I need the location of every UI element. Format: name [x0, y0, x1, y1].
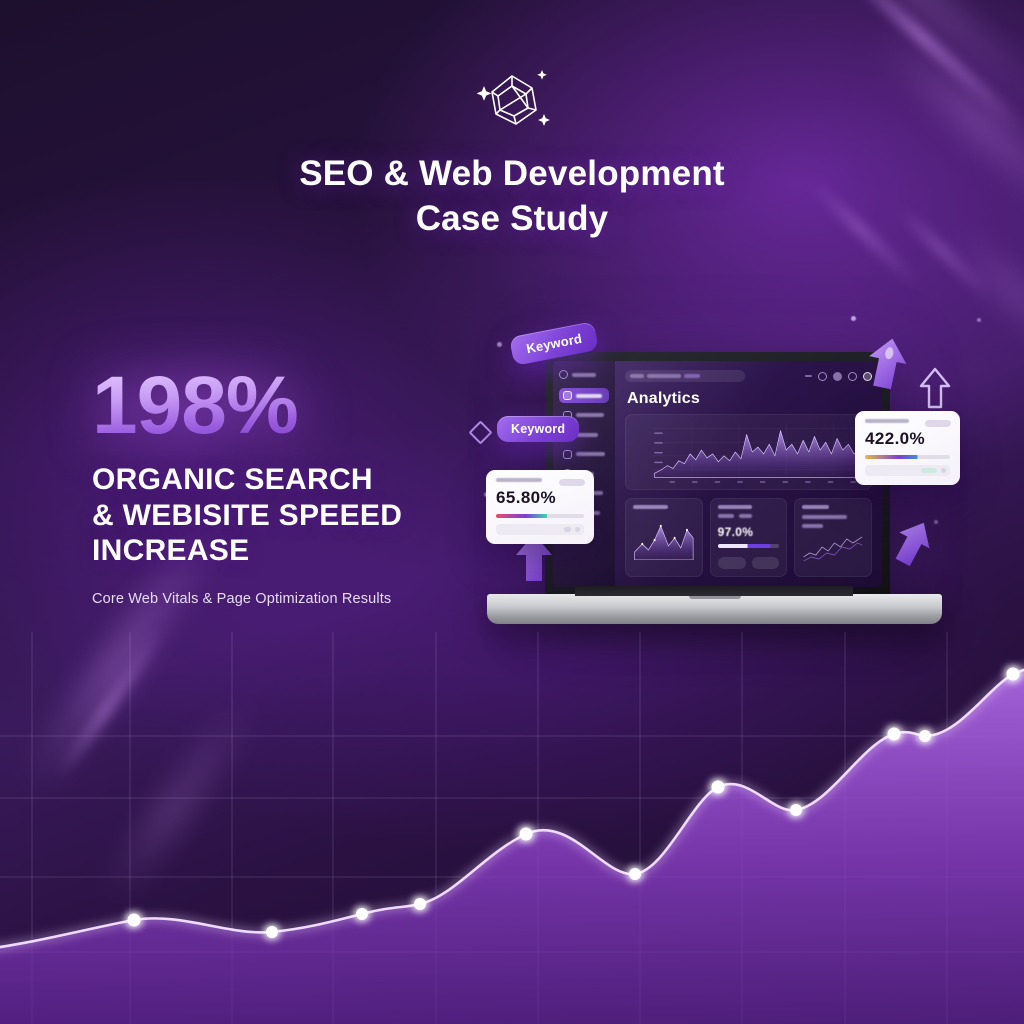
card-middle-title: [718, 505, 753, 509]
arrow-up-filled-icon: [894, 518, 932, 568]
search-placeholder: [684, 374, 700, 378]
sparkle-dot: [851, 316, 856, 321]
left-metric-footer: [496, 524, 584, 535]
sidebar-label-1: [576, 413, 604, 417]
right-metric-chip: [921, 468, 937, 473]
sparkle-dot: [497, 342, 502, 347]
laptop-keyboard: [575, 586, 853, 596]
card-right-chart: [802, 533, 864, 563]
sidebar-label-3: [576, 452, 605, 456]
right-metric-label: [865, 419, 909, 423]
card-middle-sublabel: [718, 514, 734, 518]
left-metric-value: 65.80%: [496, 488, 584, 508]
sidebar-item-3[interactable]: [559, 447, 609, 462]
sidebar-icon-0: [563, 391, 572, 400]
stat-headline-line1: ORGANIC SEARCH: [92, 462, 492, 497]
bg-streak: [950, 229, 1024, 364]
stat-headline-line3: INCREASE: [92, 533, 492, 568]
left-metric-label: [496, 478, 542, 482]
search-placeholder: [647, 374, 681, 378]
card-left-title: [633, 505, 668, 509]
right-metric-value: 422.0%: [865, 429, 950, 449]
card-right-sublabel: [802, 524, 823, 528]
dashboard-title: Analytics: [627, 390, 872, 408]
stat-value: 198%: [92, 366, 298, 446]
chart-point: [266, 926, 278, 938]
card-right-title: [802, 505, 829, 509]
chart-point: [520, 828, 533, 841]
sidebar-label-0: [576, 394, 602, 398]
stat-block: 198% ORGANIC SEARCH & WEBISITE SPEEED IN…: [92, 366, 492, 607]
left-metric-chip: [575, 527, 580, 532]
notification-icon[interactable]: [833, 372, 842, 381]
stat-subtitle: Core Web Vitals & Page Optimization Resu…: [92, 591, 492, 607]
gem-sparkle-icon: [466, 62, 558, 142]
card-middle-button-primary[interactable]: [718, 557, 746, 569]
refresh-icon[interactable]: [818, 372, 827, 381]
stat-headline: ORGANIC SEARCH & WEBISITE SPEEED INCREAS…: [92, 462, 492, 568]
dashboard-card-left[interactable]: [625, 498, 703, 577]
growth-chart-svg: [0, 632, 1024, 1024]
stat-headline-line2: & WEBISITE SPEEED: [92, 498, 492, 533]
chart-point: [790, 804, 802, 816]
growth-chart: [0, 632, 1024, 1024]
menu-icon[interactable]: [805, 375, 812, 377]
chart-point: [919, 730, 931, 742]
area-chart-svg: [626, 415, 871, 489]
page-title-line2: Case Study: [0, 197, 1024, 242]
sparkle-dot: [977, 318, 981, 322]
chart-point: [1007, 668, 1020, 681]
logo-wrap: [0, 62, 1024, 142]
right-metric-card[interactable]: 422.0%: [855, 411, 960, 485]
laptop-screen: Analytics: [553, 361, 882, 587]
chart-point: [414, 898, 426, 910]
brand-icon: [559, 370, 568, 379]
promo-canvas: SEO & Web Development Case Study 198% OR…: [0, 0, 1024, 1024]
card-left-chart: [633, 516, 695, 560]
dashboard-area-chart: [625, 414, 872, 490]
laptop-lid: Analytics: [545, 352, 890, 597]
page-title-line1: SEO & Web Development: [0, 152, 1024, 197]
card-middle-sublabel: [739, 514, 752, 518]
settings-icon[interactable]: [848, 372, 857, 381]
sidebar-item-0[interactable]: [559, 388, 609, 403]
sidebar-label-2: [576, 433, 598, 437]
dashboard-card-middle[interactable]: 97.0%: [710, 498, 788, 577]
right-metric-badge: [925, 420, 951, 427]
arrow-up-outline-icon: [918, 366, 952, 410]
chart-point: [128, 914, 141, 927]
right-metric-chip: [941, 468, 946, 473]
left-metric-card[interactable]: 65.80%: [486, 470, 594, 544]
card-middle-actions: [718, 557, 780, 569]
arrow-up-filled-icon: [866, 336, 908, 392]
card-middle-button-secondary[interactable]: [752, 557, 780, 569]
laptop-base: [487, 594, 942, 624]
right-metric-footer: [865, 465, 950, 476]
left-metric-chip: [564, 527, 571, 532]
chart-point: [356, 908, 368, 920]
dashboard-main: Analytics: [615, 361, 882, 587]
sidebar-icon-3: [563, 450, 572, 459]
card-right-sublabel: [802, 515, 846, 519]
dashboard-cards-row: 97.0%: [625, 498, 872, 577]
chart-point: [712, 781, 725, 794]
card-middle-progress: [718, 544, 780, 548]
card-middle-value: 97.0%: [718, 525, 780, 539]
analytics-dashboard: Analytics: [553, 361, 882, 587]
laptop-trackpad-notch: [689, 596, 741, 599]
left-metric-progress: [496, 514, 584, 518]
right-metric-progress: [865, 455, 950, 459]
page-title: SEO & Web Development Case Study: [0, 152, 1024, 242]
dashboard-card-right[interactable]: [794, 498, 872, 577]
dashboard-topbar: [625, 370, 872, 382]
dashboard-topbar-icons: [805, 372, 872, 381]
dashboard-search-input[interactable]: [625, 370, 745, 382]
chart-point: [629, 868, 641, 880]
search-placeholder: [630, 374, 644, 378]
chart-point: [888, 728, 901, 741]
brand-label: [572, 373, 596, 377]
keyword-badge-bottom[interactable]: Keyword: [497, 416, 579, 442]
sidebar-brand: [559, 370, 609, 379]
left-metric-badge: [559, 479, 585, 486]
